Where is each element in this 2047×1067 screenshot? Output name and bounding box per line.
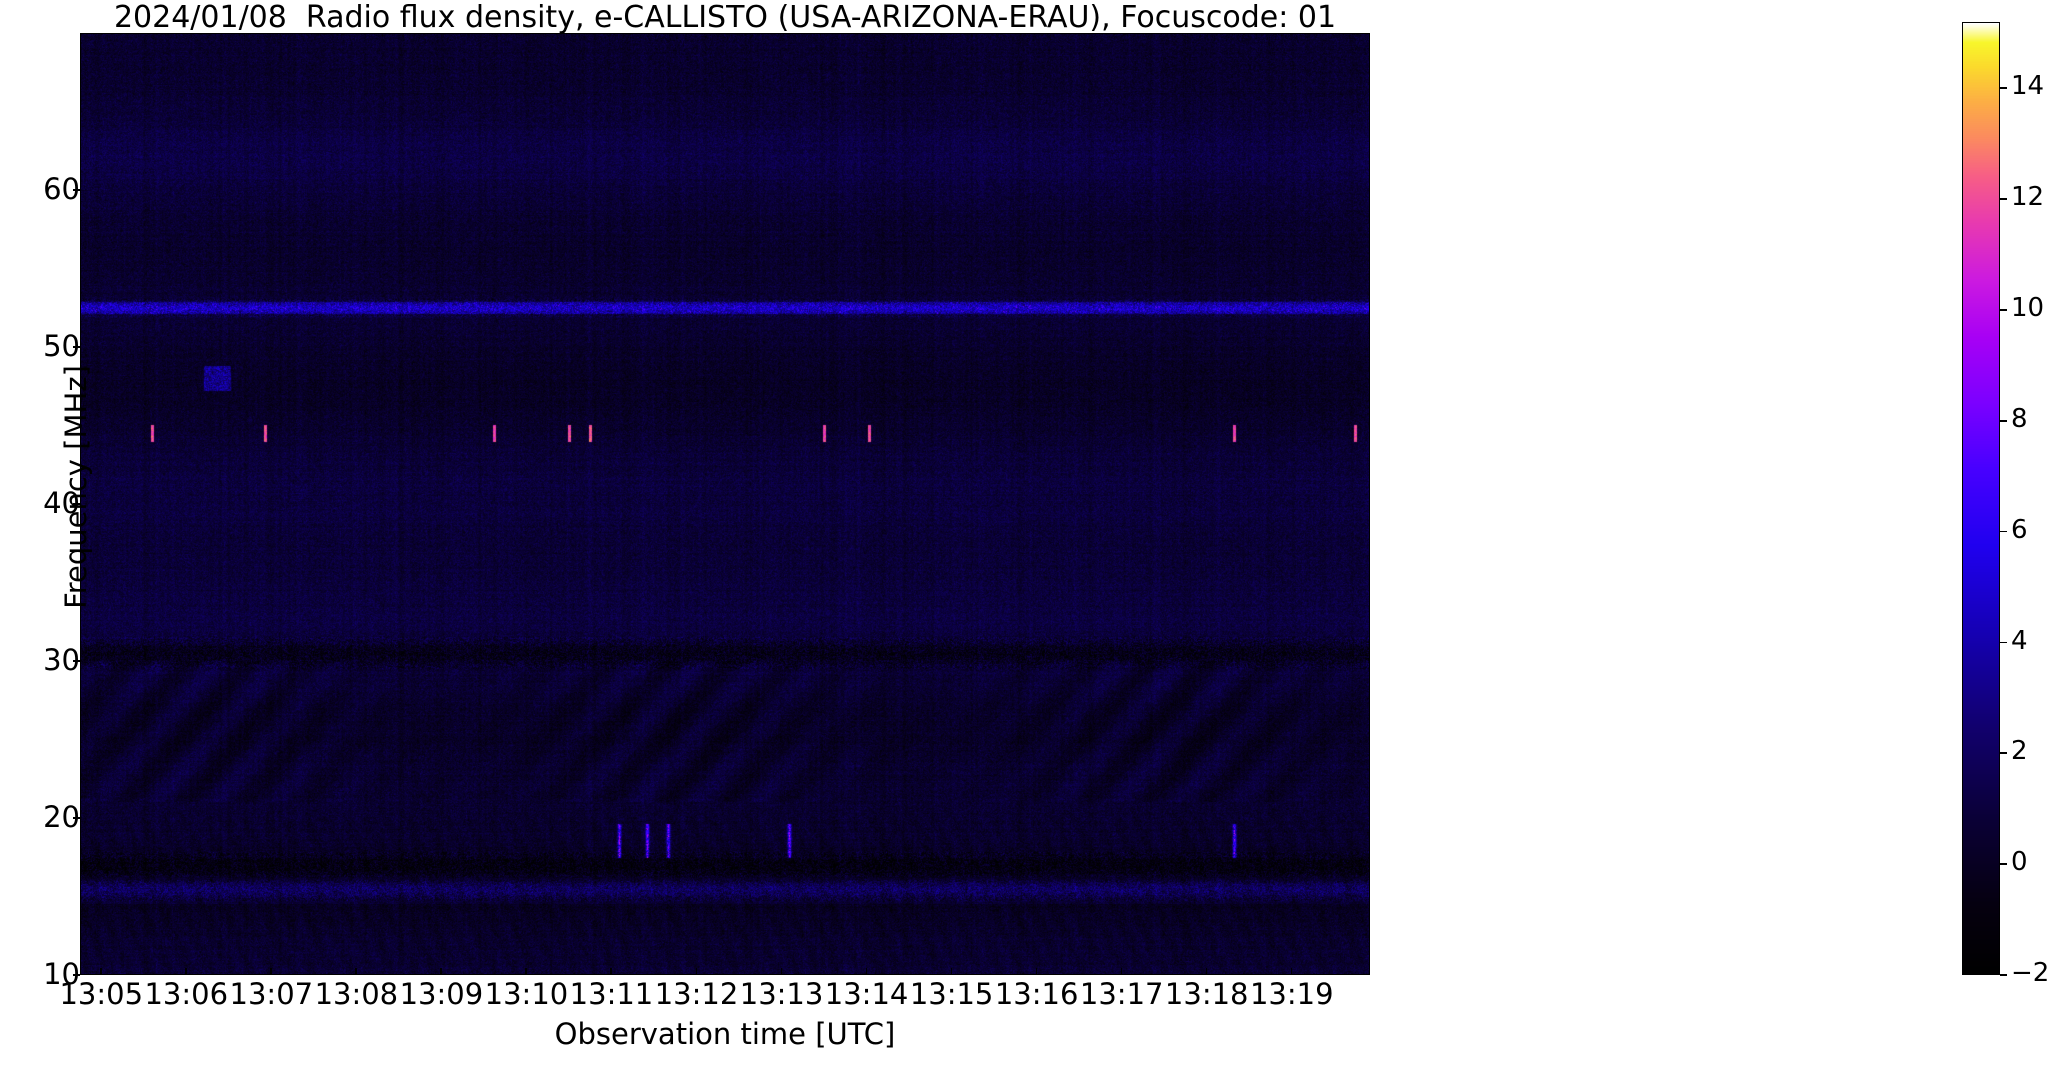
y-axis-label: Frequency [MHz] [59, 17, 93, 957]
colorbar-tick-label: 8 [2011, 404, 2028, 434]
x-tick-mark [1291, 968, 1293, 975]
colorbar-tick-mark [2000, 87, 2007, 89]
colorbar-tick-mark [2000, 752, 2007, 754]
colorbar-tick-mark [2000, 642, 2007, 644]
colorbar-tick-mark [2000, 198, 2007, 200]
x-tick-mark [951, 968, 953, 975]
page-title: 2024/01/08 Radio flux density, e-CALLIST… [80, 2, 1370, 34]
colorbar-tick-label: 4 [2011, 626, 2028, 656]
y-tick-mark [73, 974, 80, 976]
x-tick-mark [1121, 968, 1123, 975]
colorbar-tick-mark [2000, 863, 2007, 865]
colorbar-tick-label: 6 [2011, 515, 2028, 545]
x-tick-mark [1036, 968, 1038, 975]
colorbar-tick-mark [2000, 531, 2007, 533]
x-axis-label: Observation time [UTC] [80, 1017, 1370, 1051]
x-tick-mark [185, 968, 187, 975]
x-tick-mark [100, 968, 102, 975]
x-tick-mark [355, 968, 357, 975]
colorbar-tick-label: −2 [2011, 958, 2047, 988]
colorbar-tick-mark [2000, 974, 2007, 976]
spectrogram-figure: 2024/01/08 Radio flux density, e-CALLIST… [0, 0, 2047, 1067]
colorbar-tick-label: 12 [2011, 182, 2044, 212]
x-tick-mark [866, 968, 868, 975]
colorbar[interactable] [1962, 22, 2000, 975]
spectrogram-image [81, 34, 1369, 974]
spectrogram-plot-area[interactable] [80, 33, 1370, 975]
x-tick-label: 13:19 [1212, 977, 1372, 1011]
colorbar-gradient [1963, 23, 1999, 974]
x-tick-mark [610, 968, 612, 975]
colorbar-tick-label: 10 [2011, 293, 2044, 323]
x-tick-mark [1206, 968, 1208, 975]
x-tick-mark [270, 968, 272, 975]
x-tick-mark [440, 968, 442, 975]
colorbar-tick-mark [2000, 420, 2007, 422]
colorbar-tick-label: 14 [2011, 71, 2044, 101]
colorbar-tick-mark [2000, 309, 2007, 311]
colorbar-tick-label: 0 [2011, 847, 2028, 877]
x-tick-mark [781, 968, 783, 975]
x-tick-mark [525, 968, 527, 975]
colorbar-tick-label: 2 [2011, 736, 2028, 766]
x-tick-mark [696, 968, 698, 975]
